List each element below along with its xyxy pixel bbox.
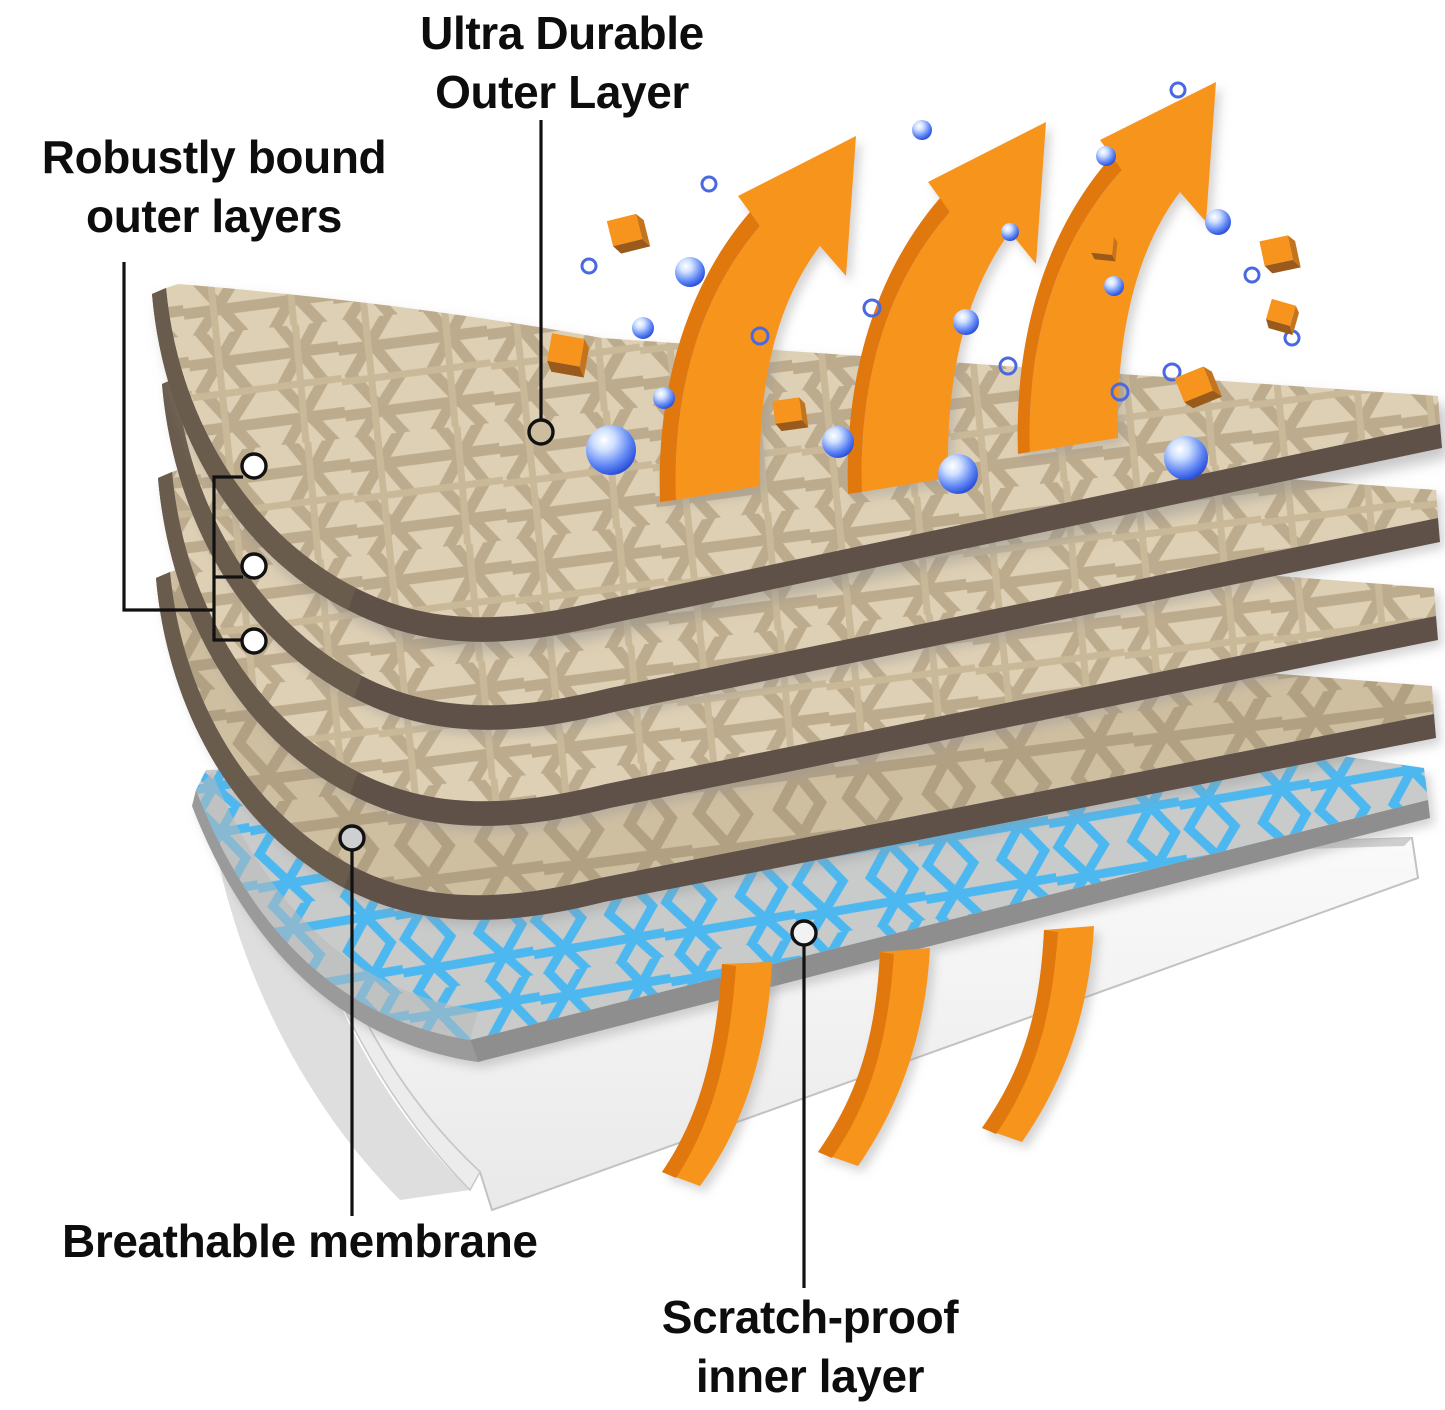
marker-bond-3	[242, 629, 266, 653]
label-scratch-proof-inner-layer: Scratch-proof inner layer	[600, 1288, 1020, 1406]
label-robustly-bound-outer-layers: Robustly bound outer layers	[4, 128, 424, 246]
marker-bond-2	[242, 554, 266, 578]
marker-scratch	[792, 921, 816, 945]
marker-bond-1	[242, 454, 266, 478]
label-breathable-membrane: Breathable membrane	[62, 1212, 662, 1271]
diagram-canvas: Ultra Durable Outer Layer Robustly bound…	[0, 0, 1445, 1410]
marker-outer-layer	[529, 420, 553, 444]
marker-membrane	[340, 826, 364, 850]
label-ultra-durable-outer-layer: Ultra Durable Outer Layer	[372, 4, 752, 122]
